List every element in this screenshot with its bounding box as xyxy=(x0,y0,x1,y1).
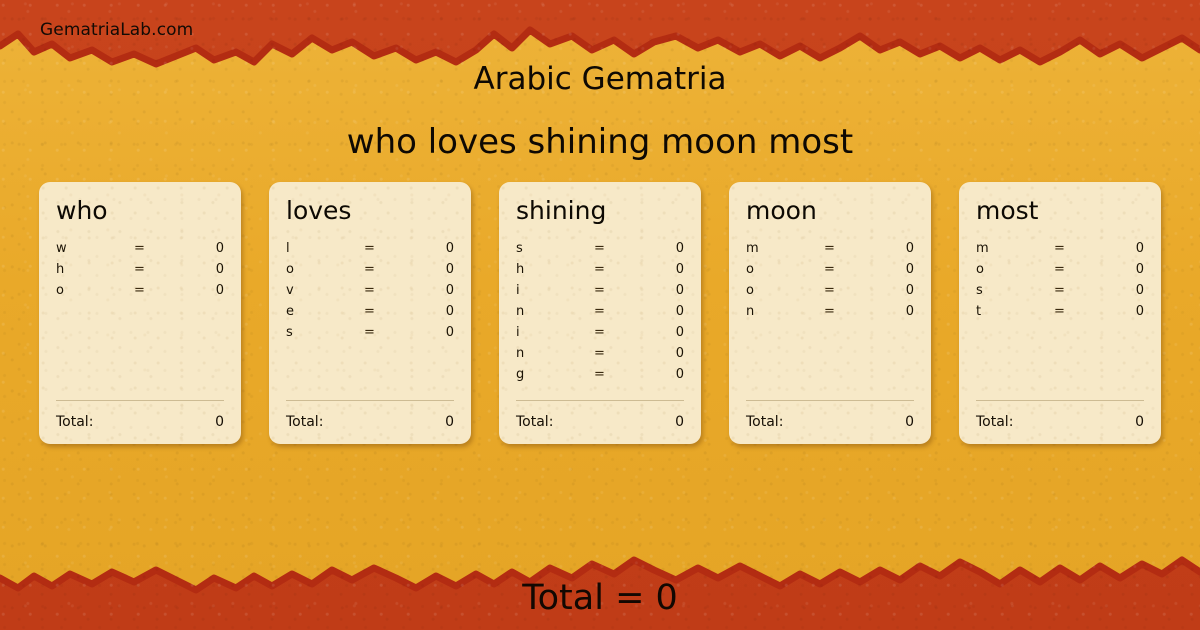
equals-sign: = xyxy=(594,325,640,340)
letter-row-group: l=0o=0v=0e=0s=0 xyxy=(286,241,454,400)
letter-row: n=0 xyxy=(516,304,684,325)
letter-value: 0 xyxy=(410,304,454,319)
equals-sign: = xyxy=(594,304,640,319)
letter-row: i=0 xyxy=(516,283,684,304)
equals-sign: = xyxy=(134,262,180,277)
letter-character: m xyxy=(976,241,1054,256)
equals-sign: = xyxy=(594,241,640,256)
letter-row: l=0 xyxy=(286,241,454,262)
letter-character: n xyxy=(746,304,824,319)
letter-row: o=0 xyxy=(56,283,224,304)
letter-row: n=0 xyxy=(516,346,684,367)
letter-value: 0 xyxy=(180,283,224,298)
card-total-label: Total: xyxy=(976,414,1135,430)
letter-value: 0 xyxy=(640,367,684,382)
letter-row: t=0 xyxy=(976,304,1144,325)
letter-character: o xyxy=(746,262,824,277)
grand-total: Total = 0 xyxy=(0,578,1200,618)
equals-sign: = xyxy=(364,325,410,340)
letter-row-group: m=0o=0s=0t=0 xyxy=(976,241,1144,400)
site-watermark: GematriaLab.com xyxy=(40,20,193,40)
equals-sign: = xyxy=(824,304,870,319)
equals-sign: = xyxy=(824,262,870,277)
card-total-value: 0 xyxy=(675,414,684,430)
letter-character: s xyxy=(286,325,364,340)
equals-sign: = xyxy=(594,367,640,382)
letter-character: n xyxy=(516,346,594,361)
card-total-value: 0 xyxy=(905,414,914,430)
word-card: mostm=0o=0s=0t=0Total:0 xyxy=(959,182,1161,444)
card-total-row: Total:0 xyxy=(746,401,914,444)
phrase-subtitle: who loves shining moon most xyxy=(0,122,1200,162)
letter-character: o xyxy=(286,262,364,277)
letter-value: 0 xyxy=(1100,241,1144,256)
card-word-title: loves xyxy=(286,198,454,223)
letter-character: h xyxy=(516,262,594,277)
letter-row: s=0 xyxy=(516,241,684,262)
letter-row: o=0 xyxy=(746,262,914,283)
letter-character: t xyxy=(976,304,1054,319)
letter-character: s xyxy=(516,241,594,256)
letter-value: 0 xyxy=(1100,262,1144,277)
letter-row: m=0 xyxy=(976,241,1144,262)
letter-row-group: m=0o=0o=0n=0 xyxy=(746,241,914,400)
letter-value: 0 xyxy=(640,304,684,319)
letter-row: e=0 xyxy=(286,304,454,325)
card-total-row: Total:0 xyxy=(516,401,684,444)
equals-sign: = xyxy=(594,262,640,277)
card-total-label: Total: xyxy=(516,414,675,430)
page-title: Arabic Gematria xyxy=(0,61,1200,97)
letter-row-group: s=0h=0i=0n=0i=0n=0g=0 xyxy=(516,241,684,400)
equals-sign: = xyxy=(1054,304,1100,319)
equals-sign: = xyxy=(1054,262,1100,277)
equals-sign: = xyxy=(594,346,640,361)
card-total-row: Total:0 xyxy=(286,401,454,444)
equals-sign: = xyxy=(1054,283,1100,298)
letter-character: s xyxy=(976,283,1054,298)
card-total-label: Total: xyxy=(56,414,215,430)
equals-sign: = xyxy=(594,283,640,298)
card-total-value: 0 xyxy=(1135,414,1144,430)
letter-character: o xyxy=(976,262,1054,277)
letter-value: 0 xyxy=(870,283,914,298)
word-card: shinings=0h=0i=0n=0i=0n=0g=0Total:0 xyxy=(499,182,701,444)
letter-value: 0 xyxy=(640,283,684,298)
card-word-title: most xyxy=(976,198,1144,223)
letter-row: n=0 xyxy=(746,304,914,325)
word-card: whow=0h=0o=0Total:0 xyxy=(39,182,241,444)
letter-value: 0 xyxy=(1100,304,1144,319)
word-card: lovesl=0o=0v=0e=0s=0Total:0 xyxy=(269,182,471,444)
letter-value: 0 xyxy=(640,325,684,340)
letter-row: o=0 xyxy=(746,283,914,304)
letter-value: 0 xyxy=(1100,283,1144,298)
card-total-row: Total:0 xyxy=(56,401,224,444)
card-total-value: 0 xyxy=(445,414,454,430)
letter-character: l xyxy=(286,241,364,256)
equals-sign: = xyxy=(364,241,410,256)
letter-character: e xyxy=(286,304,364,319)
letter-value: 0 xyxy=(180,262,224,277)
letter-character: i xyxy=(516,325,594,340)
equals-sign: = xyxy=(364,304,410,319)
letter-character: m xyxy=(746,241,824,256)
equals-sign: = xyxy=(364,283,410,298)
letter-value: 0 xyxy=(410,241,454,256)
letter-value: 0 xyxy=(410,262,454,277)
letter-value: 0 xyxy=(180,241,224,256)
equals-sign: = xyxy=(134,241,180,256)
card-total-label: Total: xyxy=(746,414,905,430)
equals-sign: = xyxy=(134,283,180,298)
card-word-title: who xyxy=(56,198,224,223)
letter-character: o xyxy=(746,283,824,298)
letter-row: h=0 xyxy=(516,262,684,283)
card-total-row: Total:0 xyxy=(976,401,1144,444)
equals-sign: = xyxy=(1054,241,1100,256)
card-word-title: moon xyxy=(746,198,914,223)
letter-value: 0 xyxy=(870,304,914,319)
equals-sign: = xyxy=(824,241,870,256)
letter-value: 0 xyxy=(640,262,684,277)
letter-row: i=0 xyxy=(516,325,684,346)
letter-character: o xyxy=(56,283,134,298)
equals-sign: = xyxy=(364,262,410,277)
letter-row: h=0 xyxy=(56,262,224,283)
letter-row: s=0 xyxy=(976,283,1144,304)
letter-character: w xyxy=(56,241,134,256)
letter-character: n xyxy=(516,304,594,319)
letter-row: s=0 xyxy=(286,325,454,346)
letter-value: 0 xyxy=(870,241,914,256)
letter-row: g=0 xyxy=(516,367,684,388)
word-card: moonm=0o=0o=0n=0Total:0 xyxy=(729,182,931,444)
letter-row: w=0 xyxy=(56,241,224,262)
letter-row: o=0 xyxy=(976,262,1144,283)
letter-character: i xyxy=(516,283,594,298)
letter-value: 0 xyxy=(410,325,454,340)
word-card-list: whow=0h=0o=0Total:0lovesl=0o=0v=0e=0s=0T… xyxy=(39,182,1161,444)
letter-value: 0 xyxy=(870,262,914,277)
card-total-label: Total: xyxy=(286,414,445,430)
letter-row-group: w=0h=0o=0 xyxy=(56,241,224,400)
letter-character: v xyxy=(286,283,364,298)
letter-row: m=0 xyxy=(746,241,914,262)
card-word-title: shining xyxy=(516,198,684,223)
letter-value: 0 xyxy=(640,346,684,361)
letter-value: 0 xyxy=(410,283,454,298)
letter-row: v=0 xyxy=(286,283,454,304)
letter-character: g xyxy=(516,367,594,382)
letter-row: o=0 xyxy=(286,262,454,283)
equals-sign: = xyxy=(824,283,870,298)
letter-value: 0 xyxy=(640,241,684,256)
card-total-value: 0 xyxy=(215,414,224,430)
letter-character: h xyxy=(56,262,134,277)
